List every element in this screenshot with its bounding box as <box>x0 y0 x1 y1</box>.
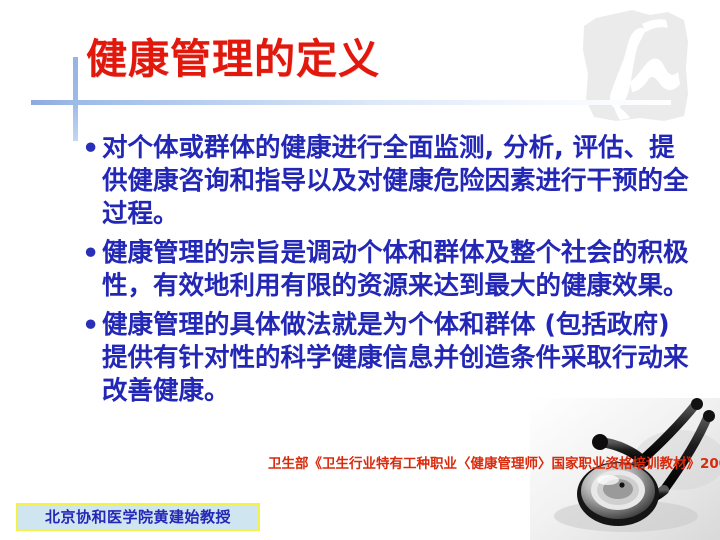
list-item-text: 健康管理的具体做法就是为个体和群体 (包括政府) 提供有针对性的科学健康信息并创… <box>102 309 694 408</box>
title-horizontal-rule <box>31 100 671 105</box>
author-footer-text: 北京协和医学院黄建始教授 <box>45 510 231 525</box>
citation-text: 卫生部《卫生行业特有工种职业〈健康管理师〉国家职业资格培训教材》2006 <box>268 452 720 472</box>
list-item: • 健康管理的具体做法就是为个体和群体 (包括政府) 提供有针对性的科学健康信息… <box>82 309 694 408</box>
page-title: 健康管理的定义 <box>86 36 380 83</box>
bullet-marker-icon: • <box>82 237 102 270</box>
list-item: • 健康管理的宗旨是调动个体和群体及整个社会的积极性，有效地利用有限的资源来达到… <box>82 237 694 303</box>
list-item-text: 健康管理的宗旨是调动个体和群体及整个社会的积极性，有效地利用有限的资源来达到最大… <box>102 237 694 303</box>
bullet-marker-icon: • <box>82 309 102 342</box>
slide: 健康管理的定义 • 对个体或群体的健康进行全面监测, 分析, 评估、提供健康咨询… <box>0 0 720 540</box>
title-vertical-rule <box>73 57 78 141</box>
list-item: • 对个体或群体的健康进行全面监测, 分析, 评估、提供健康咨询和指导以及对健康… <box>82 132 694 231</box>
author-footer-box: 北京协和医学院黄建始教授 <box>16 503 260 531</box>
list-item-text: 对个体或群体的健康进行全面监测, 分析, 评估、提供健康咨询和指导以及对健康危险… <box>102 132 694 231</box>
bullet-marker-icon: • <box>82 132 102 165</box>
bullet-list: • 对个体或群体的健康进行全面监测, 分析, 评估、提供健康咨询和指导以及对健康… <box>82 132 694 414</box>
brush-stroke-watermark-icon <box>580 8 692 126</box>
